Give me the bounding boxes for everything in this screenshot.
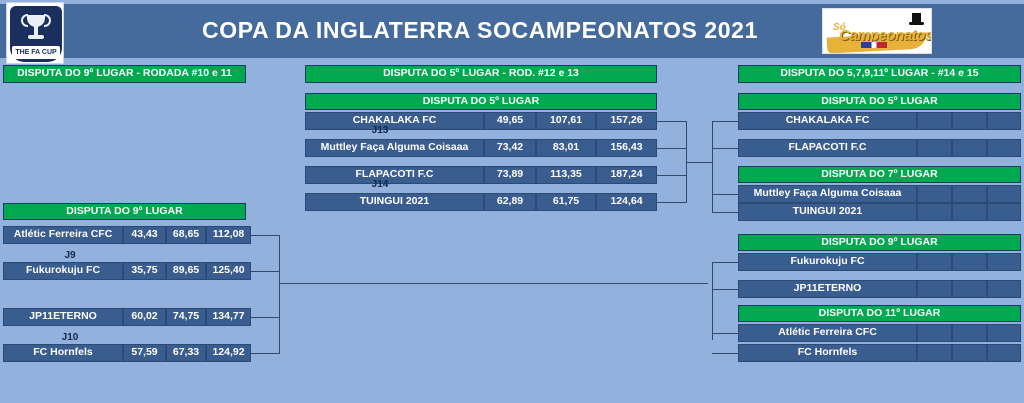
middle-round-label-j13: J13 [330,125,430,136]
fa-cup-label: THE FA CUP [12,46,60,59]
right-team-name[interactable]: TUINGUI 2021 [738,203,917,221]
connector [279,253,280,335]
connector [712,194,738,195]
middle-score-1[interactable]: 49,65 [484,112,536,130]
middle-score-total[interactable]: 156,43 [596,139,657,157]
middle-score-2[interactable]: 83,01 [536,139,596,157]
middle-round-label-j14: J14 [330,179,430,190]
connector [712,121,713,163]
connector [251,353,279,354]
right-score-2[interactable] [952,344,987,362]
left-score-total[interactable]: 112,08 [206,226,251,244]
right-score-2[interactable] [952,324,987,342]
middle-score-total[interactable]: 124,64 [596,193,657,211]
left-round-label-j10: J10 [20,332,120,343]
right-score-2[interactable] [952,112,987,130]
right-score-1[interactable] [917,324,952,342]
middle-score-2[interactable]: 61,75 [536,193,596,211]
top-hat-icon [909,13,923,27]
middle-score-total[interactable]: 187,24 [596,166,657,184]
right-team-name[interactable]: FLAPACOTI F.C [738,139,917,157]
fa-cup-logo: THE FA CUP [6,2,64,64]
connector [657,175,686,176]
right-score-total[interactable] [987,344,1021,362]
connector [712,162,713,213]
middle-team-name[interactable]: TUINGUI 2021 [305,193,484,211]
right-score-2[interactable] [952,280,987,298]
right-team-name[interactable]: JP11ETERNO [738,280,917,298]
connector-main [279,283,707,284]
left-team-name[interactable]: FC Hornfels [3,344,123,362]
so-campeonatos-logo: Só Campeonatos [822,8,932,54]
left-score-2[interactable]: 68,65 [166,226,206,244]
connector [657,148,686,149]
left-section-banner: DISPUTA DO 9º LUGAR - RODADA #10 e 11 [3,65,246,83]
right-team-name[interactable]: Atlétic Ferreira CFC [738,324,917,342]
right-score-total[interactable] [987,253,1021,271]
connector [712,262,713,340]
left-score-1[interactable]: 57,59 [123,344,166,362]
left-score-total[interactable]: 124,92 [206,344,251,362]
left-score-2[interactable]: 89,65 [166,262,206,280]
middle-score-1[interactable]: 73,89 [484,166,536,184]
right-team-name[interactable]: Muttley Faça Alguma Coisaaa [738,185,917,203]
left-score-1[interactable]: 35,75 [123,262,166,280]
right-score-1[interactable] [917,139,952,157]
connector [712,212,738,213]
right-score-1[interactable] [917,344,952,362]
right-score-total[interactable] [987,139,1021,157]
right-score-1[interactable] [917,253,952,271]
right-score-total[interactable] [987,112,1021,130]
left-score-1[interactable]: 60,02 [123,308,166,326]
connector [712,333,738,334]
bracket-page: COPA DA INGLATERRA SOCAMPEONATOS 2021 TH… [0,0,1024,403]
right-score-total[interactable] [987,203,1021,221]
right-group-header: DISPUTA DO 7º LUGAR [738,166,1021,183]
left-round-label-j9: J9 [20,250,120,261]
connector [657,121,686,122]
connector [657,202,686,203]
right-score-2[interactable] [952,203,987,221]
middle-group-header: DISPUTA DO 5º LUGAR [305,93,657,110]
middle-score-1[interactable]: 62,89 [484,193,536,211]
right-score-2[interactable] [952,253,987,271]
right-team-name[interactable]: FC Hornfels [738,344,917,362]
page-title: COPA DA INGLATERRA SOCAMPEONATOS 2021 [160,14,800,46]
right-score-total[interactable] [987,185,1021,203]
left-score-2[interactable]: 67,33 [166,344,206,362]
right-score-1[interactable] [917,280,952,298]
right-section-banner: DISPUTA DO 5,7,9,11º LUGAR - #14 e 15 [738,65,1021,83]
connector [251,271,279,272]
middle-score-2[interactable]: 113,35 [536,166,596,184]
right-group-header: DISPUTA DO 9º LUGAR [738,234,1021,251]
middle-section-banner: DISPUTA DO 5º LUGAR - ROD. #12 e 13 [305,65,657,83]
right-team-name[interactable]: Fukurokuju FC [738,253,917,271]
left-team-name[interactable]: JP11ETERNO [3,308,123,326]
connector [712,148,738,149]
connector [707,283,708,284]
right-score-2[interactable] [952,185,987,203]
middle-score-1[interactable]: 73,42 [484,139,536,157]
trophy-icon [23,13,49,41]
middle-score-total[interactable]: 157,26 [596,112,657,130]
right-score-total[interactable] [987,280,1021,298]
fa-cup-shield: THE FA CUP [10,6,62,62]
left-score-total[interactable]: 125,40 [206,262,251,280]
flag-icon [861,42,887,48]
connector [251,317,279,318]
right-score-2[interactable] [952,139,987,157]
right-score-1[interactable] [917,185,952,203]
right-score-1[interactable] [917,112,952,130]
right-group-header: DISPUTA DO 5º LUGAR [738,93,1021,110]
connector [712,289,738,290]
left-score-total[interactable]: 134,77 [206,308,251,326]
right-score-1[interactable] [917,203,952,221]
connector [712,353,738,354]
left-group-header: DISPUTA DO 9º LUGAR [3,203,246,220]
connector [686,162,712,163]
right-group-header: DISPUTA DO 11º LUGAR [738,305,1021,322]
left-score-2[interactable]: 74,75 [166,308,206,326]
connector [251,235,279,236]
left-team-name[interactable]: Atlétic Ferreira CFC [3,226,123,244]
right-score-total[interactable] [987,324,1021,342]
right-team-name[interactable]: CHAKALAKA FC [738,112,917,130]
connector [712,121,738,122]
left-score-1[interactable]: 43,43 [123,226,166,244]
left-team-name[interactable]: Fukurokuju FC [3,262,123,280]
middle-team-name[interactable]: Muttley Faça Alguma Coisaaa [305,139,484,157]
middle-score-2[interactable]: 107,61 [536,112,596,130]
connector [712,262,738,263]
